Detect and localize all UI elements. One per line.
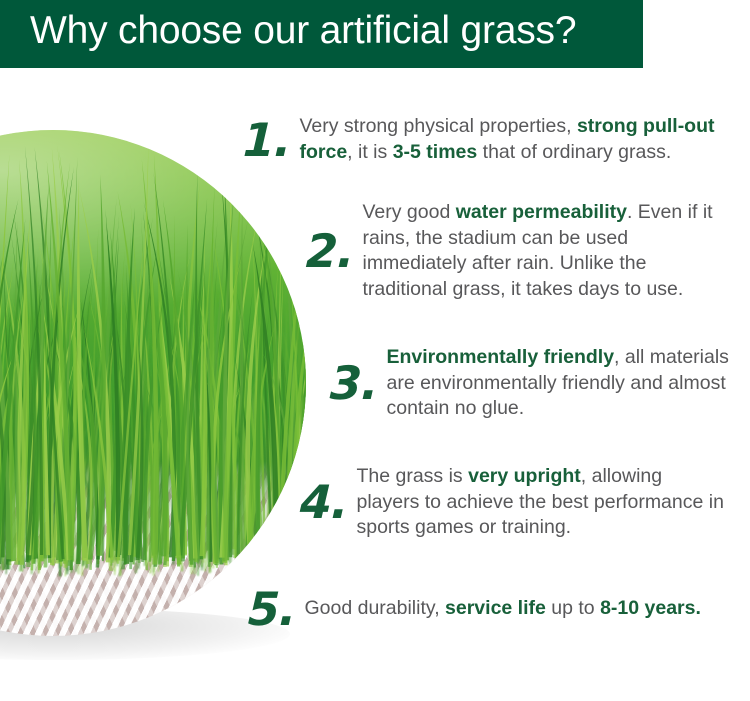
- benefit-number-2: 2.: [305, 228, 354, 274]
- benefit-number-4: 4.: [299, 479, 348, 525]
- benefit-item-3: 3. Environmentally friendly, all materia…: [330, 345, 730, 422]
- benefit-number-5: 5.: [247, 586, 296, 632]
- benefit-item-1: 1. Very strong physical properties, stro…: [243, 114, 723, 165]
- benefit-number-3: 3.: [329, 360, 378, 406]
- benefit-text-3: Environmentally friendly, all materials …: [386, 345, 730, 422]
- page-title: Why choose our artificial grass?: [30, 9, 576, 53]
- benefit-number-1: 1.: [242, 117, 291, 163]
- benefit-item-4: 4. The grass is very upright, allowing p…: [300, 464, 730, 541]
- grass-image-circle: [0, 130, 306, 636]
- benefit-item-2: 2. Very good water permeability. Even if…: [306, 200, 726, 302]
- grass-blades-overlay: [0, 130, 306, 636]
- benefit-text-4: The grass is very upright, allowing play…: [356, 464, 730, 541]
- benefit-text-1: Very strong physical properties, strong …: [299, 114, 723, 165]
- benefit-text-5: Good durability, service life up to 8-10…: [304, 596, 728, 622]
- benefit-item-5: 5. Good durability, service life up to 8…: [248, 586, 728, 632]
- header-bar: Why choose our artificial grass?: [0, 0, 643, 68]
- benefit-text-2: Very good water permeability. Even if it…: [362, 200, 726, 302]
